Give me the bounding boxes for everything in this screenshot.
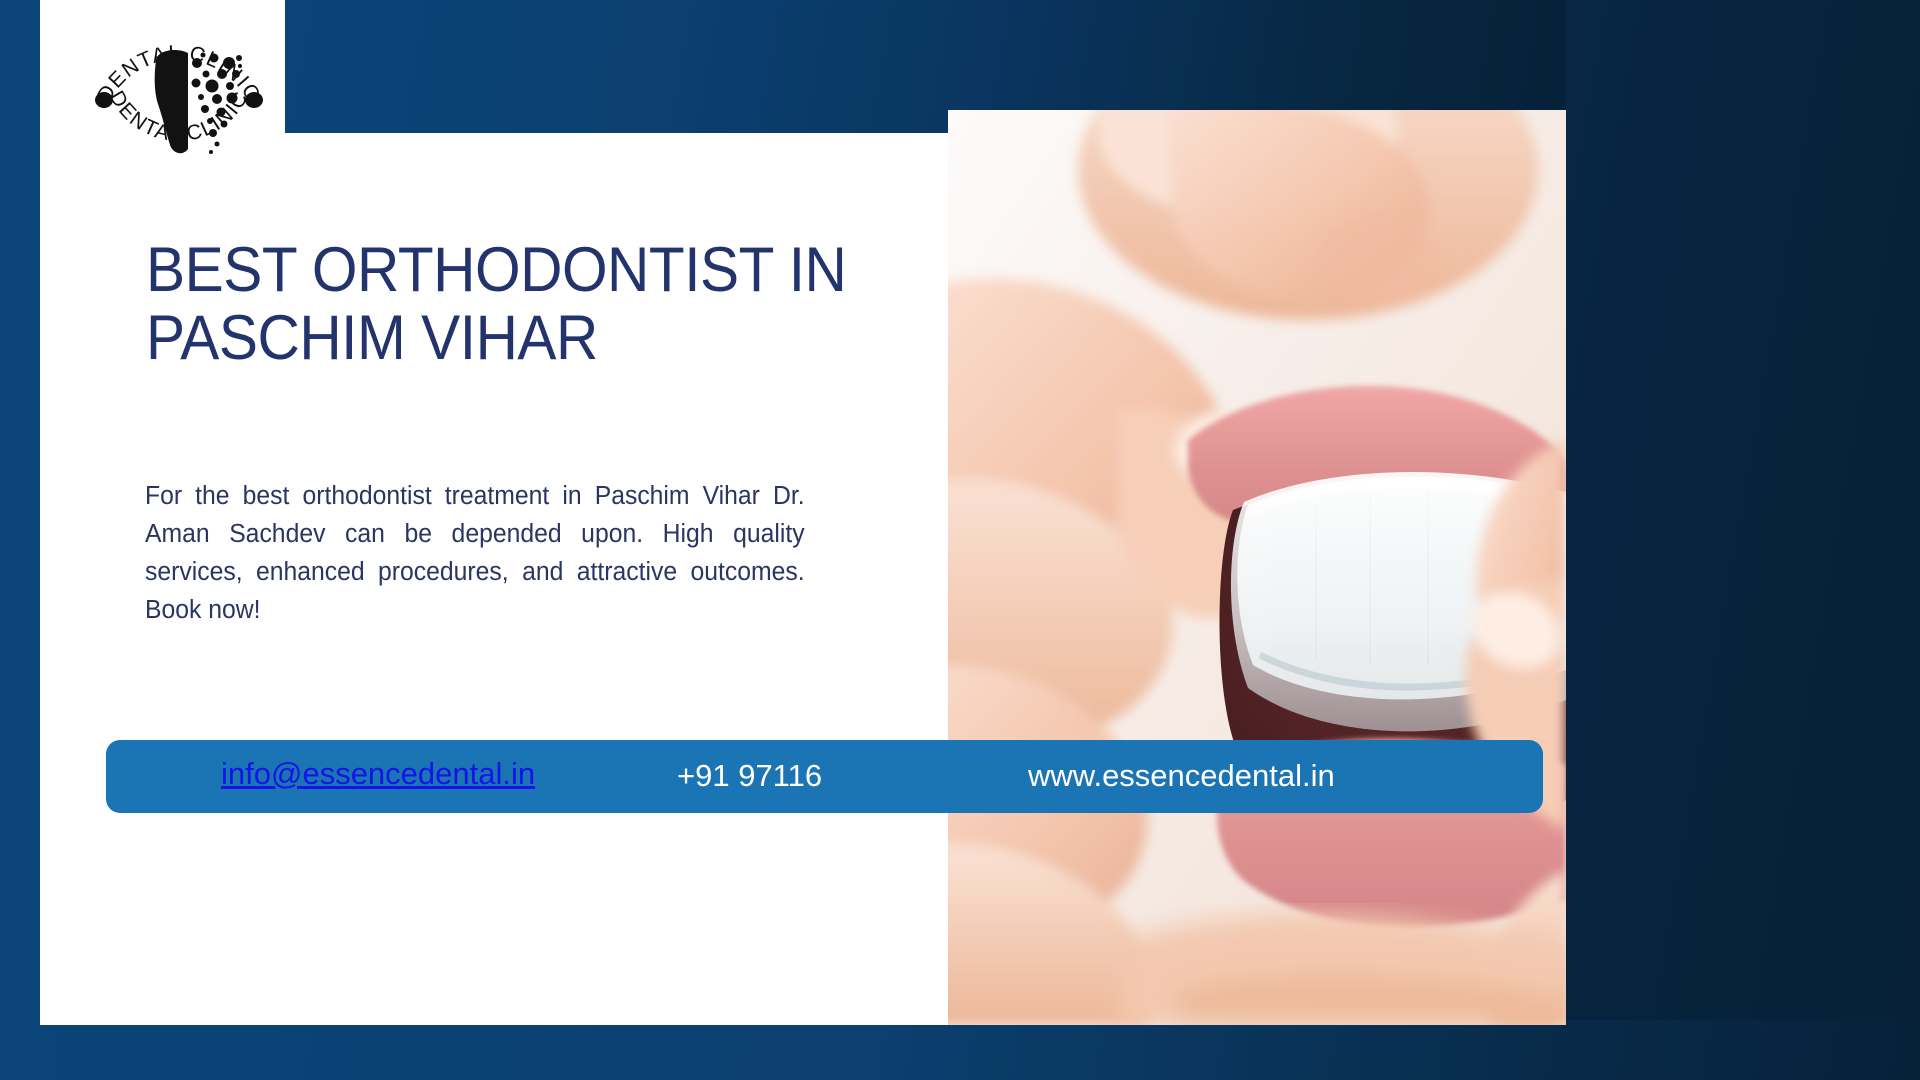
page-title-line1: BEST ORTHODONTIST IN: [146, 236, 946, 304]
dental-clinic-logo: DENTAL CLINIC DENTAL CLINIC: [84, 4, 274, 189]
contact-email-link[interactable]: info@essencedental.in: [221, 754, 566, 794]
contact-phone[interactable]: +91 97116: [677, 756, 822, 796]
page-title-line2: PASCHIM VIHAR: [146, 304, 946, 372]
contact-bar: info@essencedental.in +91 97116 www.esse…: [106, 740, 1543, 813]
logo-left-dot: [95, 92, 113, 108]
bottom-accent-band: [0, 1020, 1920, 1080]
logo-right-dot: [245, 92, 263, 108]
page-title: BEST ORTHODONTIST IN PASCHIM VIHAR: [146, 236, 946, 372]
aligner-photo: [948, 110, 1566, 1025]
contact-website[interactable]: www.essencedental.in: [1028, 756, 1335, 796]
body-paragraph: For the best orthodontist treatment in P…: [145, 477, 805, 629]
content-card: DENTAL CLINIC DENTAL CLINIC: [40, 0, 1526, 1025]
